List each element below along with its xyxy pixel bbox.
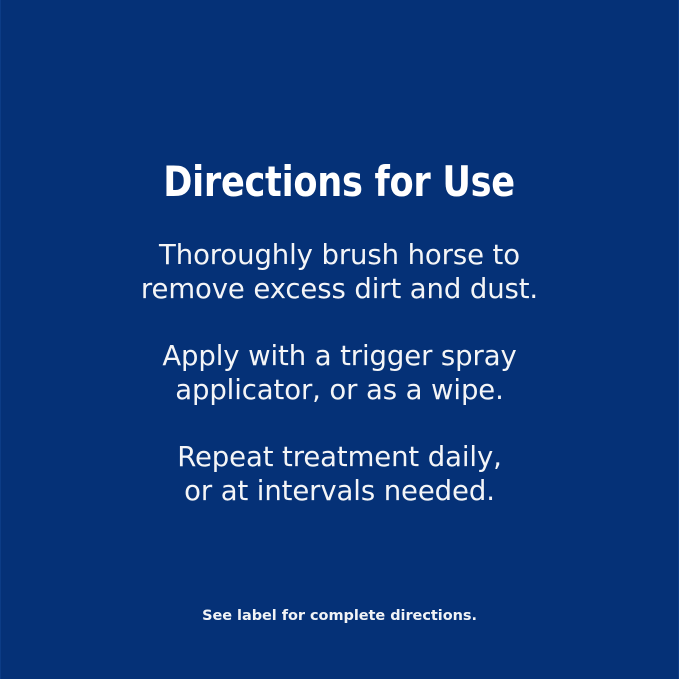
- instruction-line: Apply with a trigger spray: [1, 339, 678, 373]
- instruction-step-repeat: Repeat treatment daily, or at intervals …: [1, 440, 678, 508]
- directions-for-use-panel: Directions for Use Thoroughly brush hors…: [0, 0, 679, 679]
- heading-container: Directions for Use: [1, 159, 678, 205]
- instruction-step-brush: Thoroughly brush horse to remove excess …: [1, 238, 678, 306]
- instruction-line: remove excess dirt and dust.: [1, 272, 678, 306]
- footer-container: See label for complete directions.: [1, 606, 678, 626]
- instruction-line: or at intervals needed.: [1, 474, 678, 508]
- instruction-line: Thoroughly brush horse to: [1, 238, 678, 272]
- instruction-line: Repeat treatment daily,: [1, 440, 678, 474]
- instructions-list: Thoroughly brush horse to remove excess …: [1, 238, 678, 508]
- page-title: Directions for Use: [164, 159, 516, 205]
- instruction-line: applicator, or as a wipe.: [1, 373, 678, 407]
- instruction-step-apply: Apply with a trigger spray applicator, o…: [1, 339, 678, 407]
- label-reference-note: See label for complete directions.: [1, 606, 678, 626]
